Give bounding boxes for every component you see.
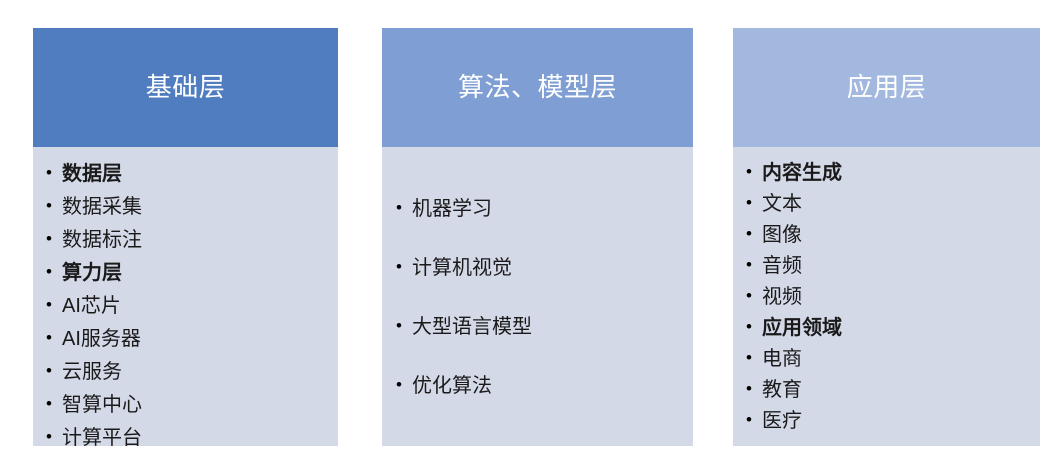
list-item-label: 算力层: [62, 263, 338, 283]
list-item-label: 视频: [762, 287, 1040, 307]
column-body-algorithm-model-layer: •机器学习•计算机视觉•大型语言模型•优化算法: [382, 147, 693, 446]
list-item: •智算中心: [46, 388, 338, 421]
bullet-point-icon: •: [396, 317, 412, 334]
list-item: •图像: [746, 219, 1040, 250]
list-item-label: 应用领域: [762, 318, 1040, 338]
list-item-label: 文本: [762, 194, 1040, 214]
list-item: •数据采集: [46, 190, 338, 223]
bullet-list-algorithm-model-layer: •机器学习•计算机视觉•大型语言模型•优化算法: [382, 157, 693, 415]
list-item: •数据层: [46, 157, 338, 190]
bullet-point-icon: •: [746, 287, 762, 304]
list-item-label: 数据标注: [62, 230, 338, 250]
column-header-foundation-layer: 基础层: [33, 28, 338, 147]
bullet-point-icon: •: [46, 197, 62, 214]
bullet-point-icon: •: [46, 263, 62, 280]
bullet-point-icon: •: [46, 362, 62, 379]
column-header-algorithm-model-layer: 算法、模型层: [382, 28, 693, 147]
list-item: •优化算法: [396, 356, 693, 415]
bullet-point-icon: •: [746, 380, 762, 397]
list-item: •电商: [746, 343, 1040, 374]
column-card-algorithm-model-layer: 算法、模型层 •机器学习•计算机视觉•大型语言模型•优化算法: [382, 28, 693, 446]
list-item-label: 计算平台: [62, 428, 338, 447]
list-item-label: 机器学习: [412, 199, 693, 219]
list-item: •医疗: [746, 405, 1040, 436]
bullet-point-icon: •: [746, 194, 762, 211]
list-item-label: AI服务器: [62, 329, 338, 349]
bullet-point-icon: •: [46, 164, 62, 181]
bullet-point-icon: •: [746, 411, 762, 428]
list-item-label: AI芯片: [62, 296, 338, 316]
bullet-point-icon: •: [746, 256, 762, 273]
list-item: •音频: [746, 250, 1040, 281]
list-item: •AI芯片: [46, 289, 338, 322]
bullet-point-icon: •: [746, 163, 762, 180]
bullet-point-icon: •: [746, 318, 762, 335]
column-body-application-layer: •内容生成•文本•图像•音频•视频•应用领域•电商•教育•医疗: [733, 147, 1040, 446]
list-item-label: 教育: [762, 380, 1040, 400]
layered-architecture-diagram: 基础层 •数据层•数据采集•数据标注•算力层•AI芯片•AI服务器•云服务•智算…: [0, 0, 1063, 474]
list-item-label: 计算机视觉: [412, 258, 693, 278]
list-item: •计算平台: [46, 421, 338, 446]
column-body-foundation-layer: •数据层•数据采集•数据标注•算力层•AI芯片•AI服务器•云服务•智算中心•计…: [33, 147, 338, 446]
list-item-label: 电商: [762, 349, 1040, 369]
list-item: •文本: [746, 188, 1040, 219]
list-item-label: 图像: [762, 225, 1040, 245]
bullet-point-icon: •: [396, 199, 412, 216]
list-item: •内容生成: [746, 157, 1040, 188]
list-item: •机器学习: [396, 179, 693, 238]
list-item-label: 优化算法: [412, 376, 693, 396]
list-item-label: 大型语言模型: [412, 317, 693, 337]
list-item: •云服务: [46, 355, 338, 388]
list-item: •数据标注: [46, 223, 338, 256]
list-item-label: 智算中心: [62, 395, 338, 415]
list-item: •教育: [746, 374, 1040, 405]
column-header-application-layer: 应用层: [733, 28, 1040, 147]
list-item-label: 音频: [762, 256, 1040, 276]
list-item: •大型语言模型: [396, 297, 693, 356]
list-item-label: 内容生成: [762, 163, 1040, 183]
list-item: •AI服务器: [46, 322, 338, 355]
bullet-list-foundation-layer: •数据层•数据采集•数据标注•算力层•AI芯片•AI服务器•云服务•智算中心•计…: [33, 157, 338, 446]
bullet-point-icon: •: [746, 225, 762, 242]
list-item-label: 云服务: [62, 362, 338, 382]
list-item-label: 数据采集: [62, 197, 338, 217]
list-item: •视频: [746, 281, 1040, 312]
column-card-application-layer: 应用层 •内容生成•文本•图像•音频•视频•应用领域•电商•教育•医疗: [733, 28, 1040, 446]
bullet-point-icon: •: [46, 428, 62, 445]
list-item-label: 数据层: [62, 164, 338, 184]
bullet-point-icon: •: [46, 230, 62, 247]
list-item-label: 医疗: [762, 411, 1040, 431]
bullet-point-icon: •: [396, 376, 412, 393]
bullet-point-icon: •: [46, 329, 62, 346]
bullet-point-icon: •: [746, 349, 762, 366]
list-item: •应用领域: [746, 312, 1040, 343]
column-card-foundation-layer: 基础层 •数据层•数据采集•数据标注•算力层•AI芯片•AI服务器•云服务•智算…: [33, 28, 338, 446]
bullet-point-icon: •: [46, 296, 62, 313]
bullet-point-icon: •: [396, 258, 412, 275]
bullet-list-application-layer: •内容生成•文本•图像•音频•视频•应用领域•电商•教育•医疗: [733, 157, 1040, 436]
list-item: •算力层: [46, 256, 338, 289]
list-item: •计算机视觉: [396, 238, 693, 297]
bullet-point-icon: •: [46, 395, 62, 412]
